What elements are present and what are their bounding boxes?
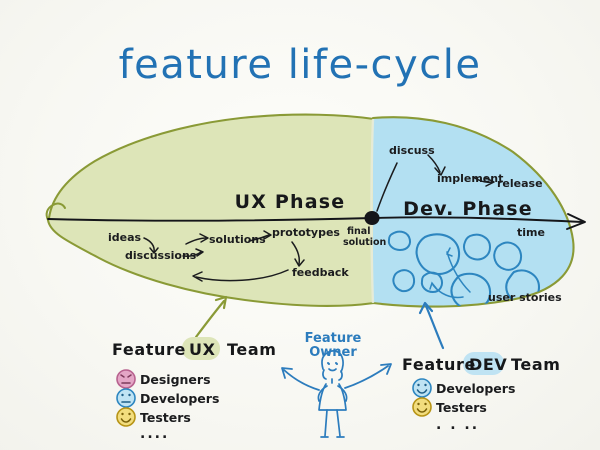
dev-role-label-testers: Testers (436, 400, 487, 415)
ux-step-feedback: feedback (292, 266, 349, 279)
ux-step-discussions: discussions (125, 249, 197, 262)
dev-team-badge-label: DEV (469, 355, 507, 374)
ux-role-label-testers: Testers (140, 410, 191, 425)
final-solution-label-line2: solution (343, 237, 387, 248)
ux-step-ideas: ideas (108, 231, 142, 244)
ux-role-label-designers: Designers (140, 372, 211, 387)
dev-step-implement: implement (437, 172, 503, 185)
ux-step-prototypes: prototypes (272, 226, 340, 239)
dev-step-release: release (497, 177, 543, 190)
feature-owner-label-line1: Feature (305, 331, 362, 346)
ux-team-prefix: Feature (112, 340, 186, 359)
dev-team-suffix: Team (511, 355, 561, 374)
dev-team-more-dots: . . .. (436, 417, 479, 433)
feature-owner-label-line2: Owner (309, 345, 357, 360)
dev-role-label-developers: Developers (436, 381, 515, 396)
diagram-text-layer: feature life-cycle UX Phase Dev. Phase t… (0, 0, 600, 450)
dev-step-discuss: discuss (389, 144, 435, 157)
ux-phase-label: UX Phase (235, 191, 346, 213)
ux-role-label-developers: Developers (140, 391, 219, 406)
final-solution-label-line1: final (347, 226, 370, 237)
diagram-canvas: feature life-cycle UX Phase Dev. Phase t… (0, 0, 600, 450)
user-stories-label: user stories (488, 291, 562, 304)
ux-team-badge-label: UX (189, 340, 216, 359)
time-axis-label: time (517, 226, 545, 239)
ux-team-more-dots: .... (140, 426, 169, 442)
dev-phase-label: Dev. Phase (403, 198, 533, 220)
ux-step-solutions: solutions (209, 233, 266, 246)
dev-team-prefix: Feature (402, 355, 476, 374)
ux-team-suffix: Team (227, 340, 277, 359)
page-title: feature life-cycle (119, 42, 482, 88)
